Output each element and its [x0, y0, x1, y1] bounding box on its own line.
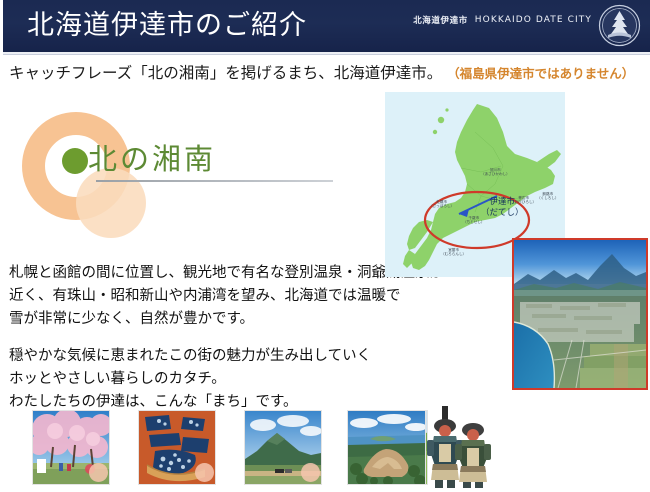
- body-line: 札幌と函館の間に位置し、観光地で有名な登別温泉・洞爺湖温泉が: [9, 262, 449, 285]
- map-city-reading: （あさひかわし）: [481, 172, 510, 176]
- photo-accent-dot: [89, 463, 108, 482]
- slide: 北海道伊達市のご紹介 北海道伊達市 HOKKAIDO DATE CITY キャッ…: [0, 0, 650, 489]
- samurai-armor-photo: [425, 406, 493, 488]
- showa-shinzan-volcano-photo-frame: [347, 410, 426, 485]
- brand-name-jp: 北海道伊達市: [413, 14, 468, 26]
- body-line: 穏やかな気候に恵まれたこの街の魅力が生み出していく: [9, 345, 449, 368]
- map-city-reading: （さっぽろし）: [429, 204, 454, 208]
- photo-gallery: [0, 404, 650, 489]
- map-city-reading: （くしろし）: [537, 196, 559, 200]
- orange-blob-icon: [76, 168, 146, 238]
- subtitle-main: キャッチフレーズ「北の湘南」を掲げるまち、北海道伊達市。: [9, 64, 442, 82]
- page-title: 北海道伊達市のご紹介: [27, 7, 307, 45]
- aerial-cityscape-photo: [512, 238, 648, 390]
- map-city-label: 札幌市 （さっぽろし）: [429, 200, 454, 209]
- date-city-callout-line2: （だてし）: [481, 208, 524, 219]
- map-city-reading: （ちとせし）: [463, 220, 485, 224]
- brand-lockup: 北海道伊達市 HOKKAIDO DATE CITY: [413, 14, 592, 26]
- body-line: 雪が非常に少なく、自然が豊かです。: [9, 308, 449, 331]
- city-crest-icon: [598, 4, 641, 47]
- map-city-label: 旭川市 （あさひかわし）: [481, 168, 510, 177]
- subtitle-line: キャッチフレーズ「北の湘南」を掲げるまち、北海道伊達市。 （福島県伊達市ではあり…: [9, 60, 649, 87]
- map-city-label: 帯広市 （おびひろし）: [511, 196, 536, 205]
- mountain-landscape-photo: [244, 410, 322, 485]
- header-rule: [3, 54, 650, 55]
- map-city-label: 釧路市 （くしろし）: [537, 192, 559, 201]
- cherry-blossom-photo: [32, 410, 110, 485]
- body-copy: 札幌と函館の間に位置し、観光地で有名な登別温泉・洞爺湖温泉が 近く、有珠山・昭和…: [9, 262, 449, 414]
- indigo-textile-photo: [138, 410, 216, 485]
- map-city-label: 室蘭市 （むろらんし）: [441, 248, 466, 257]
- body-line: ホッとやさしい暮らしのカタチ。: [9, 368, 449, 391]
- photo-accent-dot: [301, 463, 320, 482]
- page-header: 北海道伊達市のご紹介 北海道伊達市 HOKKAIDO DATE CITY: [3, 0, 650, 52]
- paragraph-gap: [9, 331, 449, 345]
- catch-phrase-text: 北の湘南: [88, 140, 216, 178]
- catch-phrase-underline: [96, 180, 333, 182]
- subtitle-note: （福島県伊達市ではありません）: [447, 66, 634, 81]
- brand-name-en: HOKKAIDO DATE CITY: [475, 15, 592, 25]
- green-dot-icon: [62, 148, 88, 174]
- body-line: 近く、有珠山・昭和新山や内浦湾を望み、北海道では温暖で: [9, 285, 449, 308]
- map-city-reading: （おびひろし）: [511, 200, 536, 204]
- map-city-reading: （むろらんし）: [441, 252, 466, 256]
- map-city-label: 千歳市 （ちとせし）: [463, 216, 485, 225]
- photo-accent-dot: [195, 463, 214, 482]
